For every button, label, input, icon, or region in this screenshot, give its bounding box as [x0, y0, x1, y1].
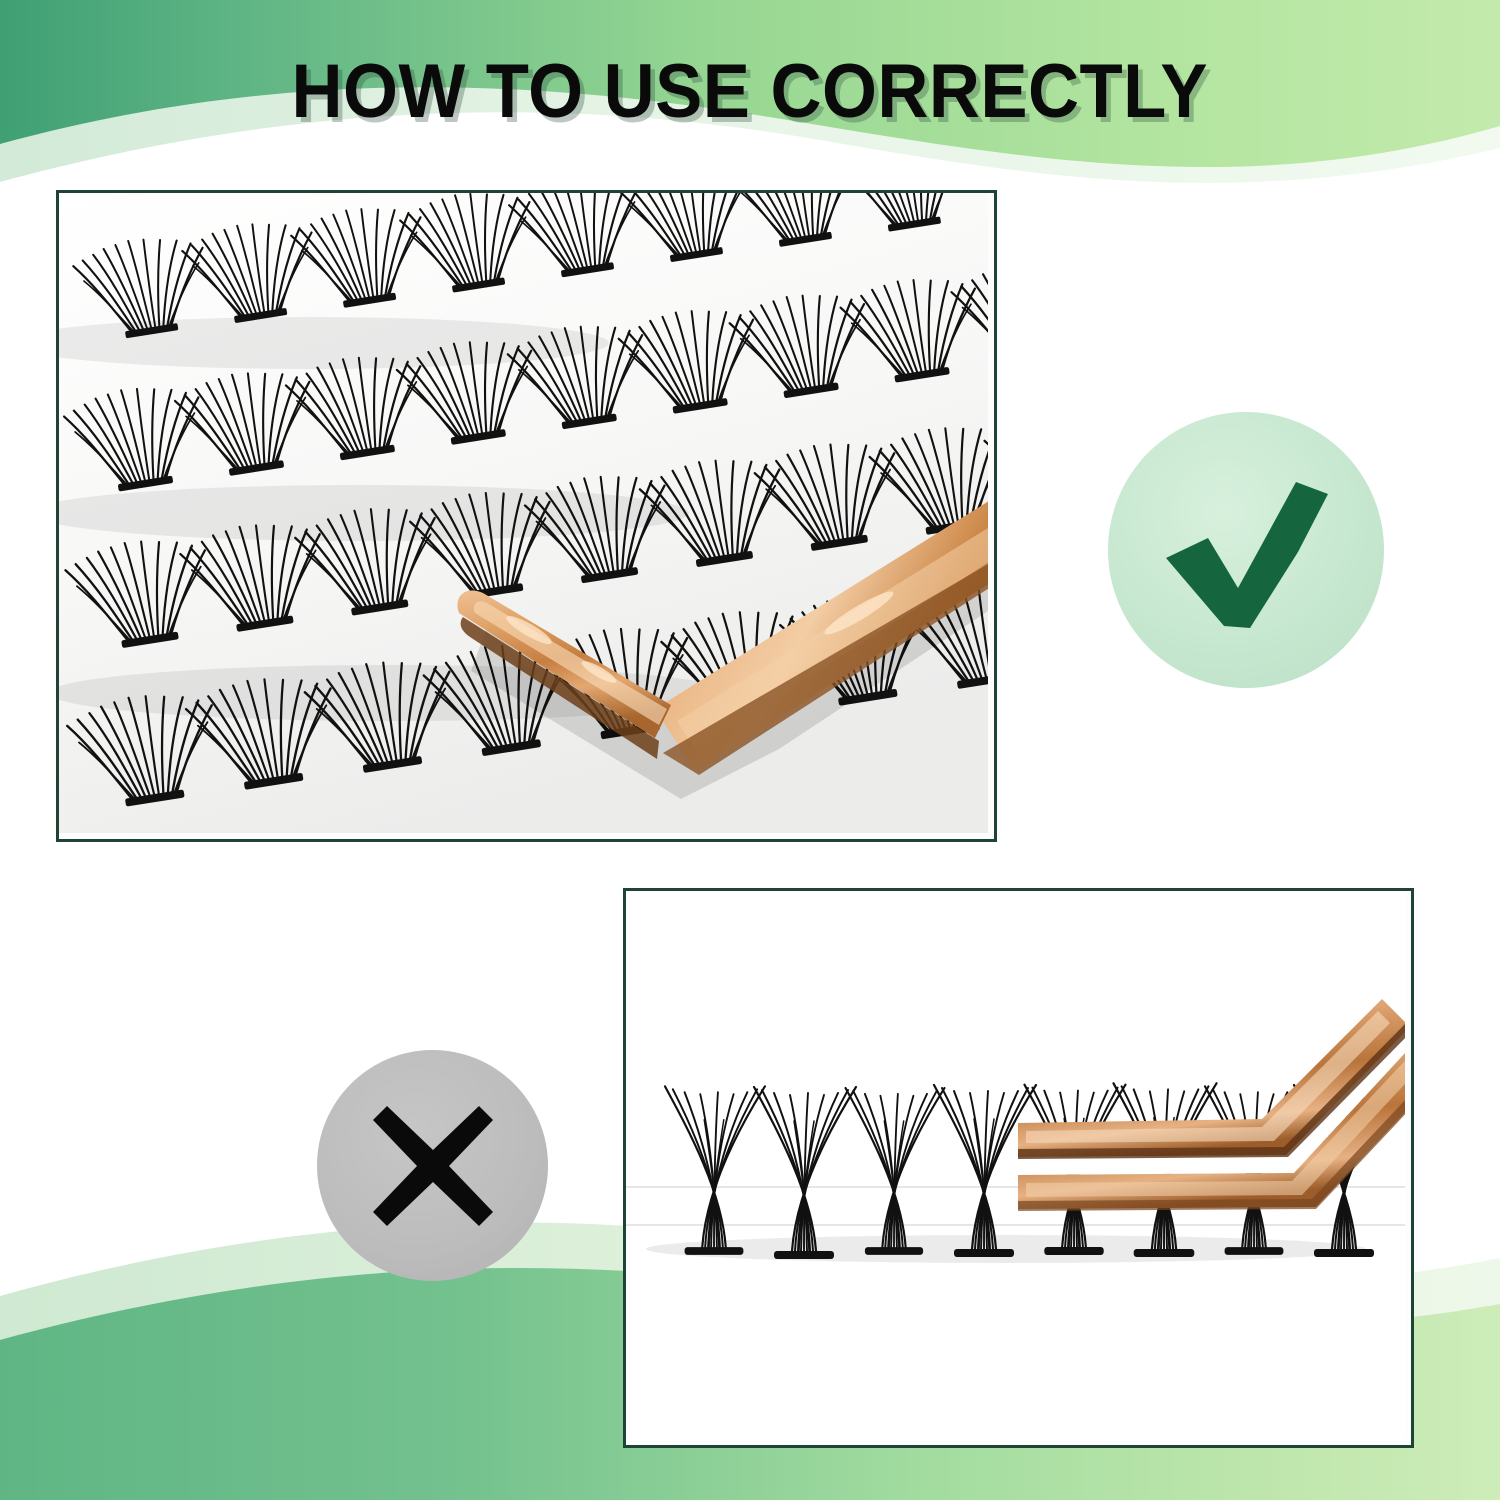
page-title: HOW TO USE CORRECTLY — [292, 54, 1208, 130]
check-badge — [1108, 412, 1384, 688]
lash-tray-top-view-illustration — [59, 193, 988, 833]
cross-badge — [317, 1050, 548, 1281]
cross-icon — [353, 1086, 513, 1246]
instruction-graphic: HOW TO USE CORRECTLY — [0, 0, 1500, 1500]
lash-tray-top-view-photo — [56, 190, 997, 842]
photo-top-canvas — [59, 193, 994, 839]
page-title-container: HOW TO USE CORRECTLY — [0, 54, 1500, 130]
lash-tray-side-view-photo — [623, 888, 1414, 1448]
check-icon — [1146, 450, 1346, 650]
photo-bottom-canvas — [626, 891, 1411, 1445]
lash-tray-side-view-illustration — [626, 891, 1405, 1439]
